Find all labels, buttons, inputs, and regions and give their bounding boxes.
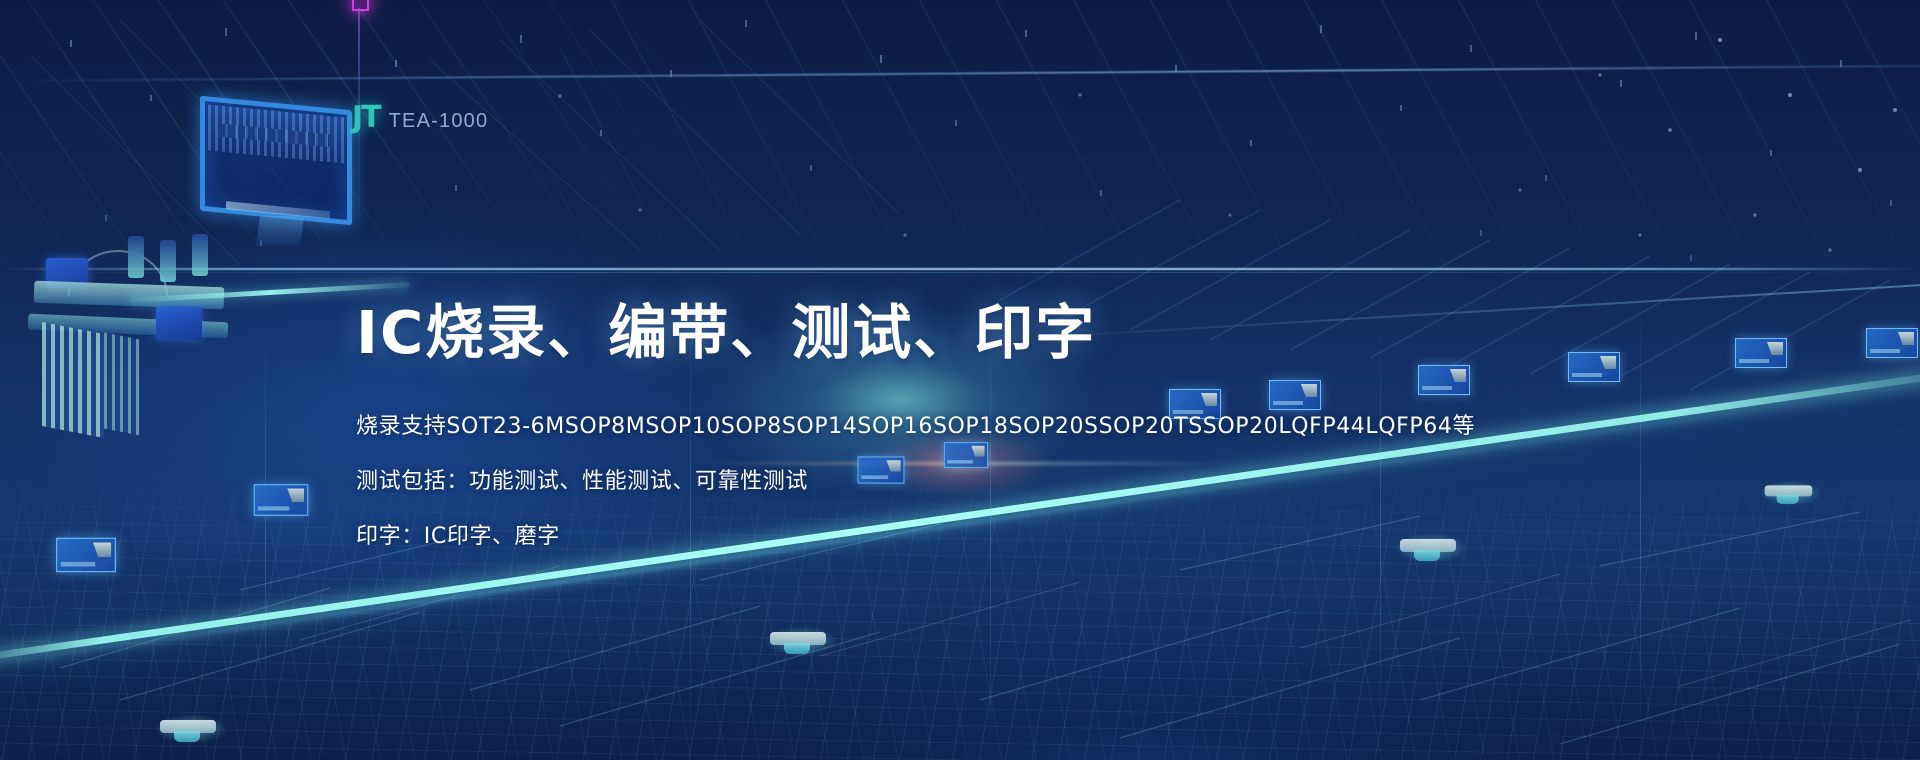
burn-support-prefix: 烧录支持SOT23-6	[356, 406, 545, 449]
package-msop10: MSOP10	[626, 406, 721, 449]
horizon-line	[0, 268, 1920, 270]
industrial-machine	[8, 232, 238, 432]
brand-logo-jt: JT	[352, 100, 380, 135]
package-lqfp44: LQFP44	[1278, 406, 1365, 449]
rack-screen-8	[56, 538, 116, 573]
marking-scope-line: 印字：IC印字、磨字	[356, 516, 1656, 559]
package-sop18: SOP18	[933, 406, 1009, 449]
conveyor-cart-1	[160, 716, 222, 742]
conveyor-cart-2	[770, 628, 832, 654]
package-lqfp64: LQFP64等	[1365, 406, 1475, 449]
magenta-marker-icon	[352, 0, 369, 11]
package-ssop20: SSOP20	[1084, 406, 1174, 449]
upper-horizon-line	[0, 65, 1920, 82]
test-scope-line: 测试包括：功能测试、性能测试、可靠性测试	[356, 461, 1656, 504]
conveyor-cart-4	[1765, 482, 1818, 504]
test-scope-text: 测试包括：功能测试、性能测试、可靠性测试	[356, 469, 808, 494]
rack-screen-5	[1735, 338, 1787, 368]
package-sop14: SOP14	[782, 406, 858, 449]
package-sop20: SOP20	[1009, 406, 1085, 449]
marking-scope-text: 印字：IC印字、磨字	[356, 524, 560, 549]
burn-support-line: 烧录支持SOT23-6 MSOP8 MSOP10 SOP8 SOP14 SOP1…	[356, 406, 1656, 449]
pillar-line-5	[265, 300, 266, 760]
page-title: IC烧录、编带、测试、印字	[356, 300, 1656, 366]
horizon-line-secondary	[0, 272, 1920, 273]
rack-screen-6	[1866, 328, 1918, 358]
equipment-model-label: TEA-1000	[389, 110, 489, 133]
equipment-brand-mark: JT TEA-1000	[352, 100, 488, 135]
package-tssop20: TSSOP20	[1174, 406, 1278, 449]
hero-banner: JT TEA-1000 IC烧录、编带、测试、印字 烧录支持SOT23-6 MS…	[0, 0, 1920, 760]
ceiling-light-beams-right	[560, 0, 1920, 340]
package-sop8: SOP8	[721, 406, 782, 449]
monitor-stand	[256, 216, 304, 246]
magenta-beam	[358, 8, 360, 248]
hero-content: IC烧录、编带、测试、印字 烧录支持SOT23-6 MSOP8 MSOP10 S…	[356, 300, 1656, 559]
equipment-monitor	[200, 96, 352, 226]
package-msop8: MSOP8	[545, 406, 626, 449]
package-sop16: SOP16	[857, 406, 933, 449]
rack-screen-7	[254, 484, 309, 516]
